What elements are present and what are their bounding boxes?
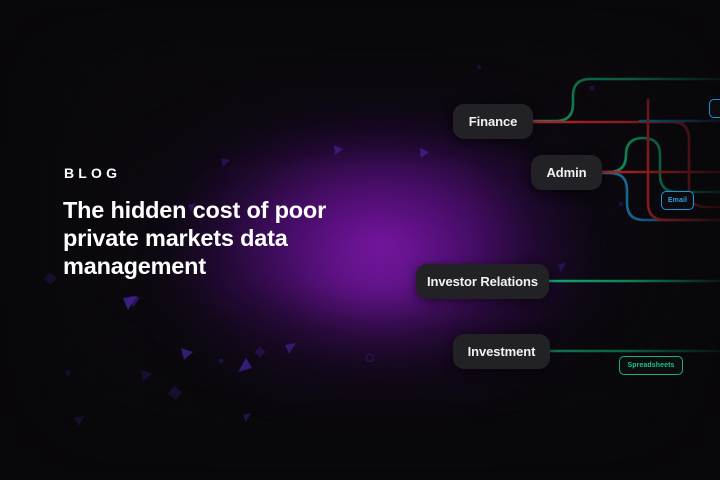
node-admin-label: Admin [547,165,587,180]
node-investor-relations-label: Investor Relations [427,274,538,289]
node-investor-relations[interactable]: Investor Relations [416,264,549,299]
badge-email-label: Email [668,197,687,204]
badge-top-right[interactable] [709,99,720,118]
node-finance-label: Finance [469,114,517,129]
node-finance[interactable]: Finance [453,104,533,139]
eyebrow-label: BLOG [64,165,121,181]
badge-spreadsheets[interactable]: Spreadsheets [619,356,683,375]
badge-spreadsheets-label: Spreadsheets [627,362,674,369]
page-title: The hidden cost of poor private markets … [63,196,393,280]
node-investment-label: Investment [468,344,536,359]
node-investment[interactable]: Investment [453,334,550,369]
hero-banner: BLOG The hidden cost of poor private mar… [0,0,720,480]
badge-email[interactable]: Email [661,191,694,210]
node-admin[interactable]: Admin [531,155,602,190]
